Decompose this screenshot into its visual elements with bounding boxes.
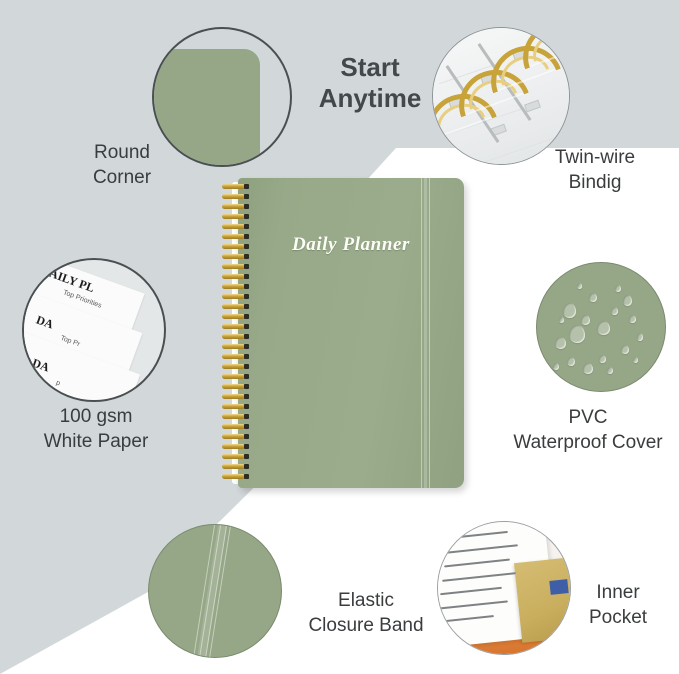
wire-loop-tip [244,414,249,419]
feature-label-line1: PVC [498,405,678,430]
water-droplet [589,293,597,302]
water-droplet [607,367,613,374]
wire-loop-body [222,344,245,349]
feature-label-twin-wire-binding: Twin-wire Bindig [520,145,670,195]
water-droplet [581,315,590,325]
wire-loop-body [222,384,245,389]
paper-stack: DAILY PL Top Priorities DA Top Pr DA p [24,260,164,400]
wire-loop-tip [244,194,249,199]
feature-label-line1: Inner [562,580,674,605]
feature-label-line2: Corner [52,165,192,190]
feature-label-line2: Waterproof Cover [498,430,678,455]
wire-loop-body [222,414,245,419]
wire-loop-body [222,394,245,399]
wire-loop-tip [244,274,249,279]
wire-loop-body [222,214,245,219]
water-droplet [555,337,566,349]
wire-loop [222,244,252,249]
wire-loop [222,434,252,439]
wire-loop-body [222,264,245,269]
feature-circle-elastic-closure-band [148,524,282,658]
water-droplet [629,315,636,323]
feature-label-line1: 100 gsm [16,404,176,429]
wire-loop-tip [244,244,249,249]
wire-loop-body [222,324,245,329]
wire-loop-body [222,274,245,279]
cover-title: Daily Planner [238,234,464,256]
wire-loop [222,354,252,359]
water-droplet [599,355,606,363]
water-droplet [569,325,585,343]
feature-label-line2: White Paper [16,429,176,454]
wire-loop-tip [244,424,249,429]
wire-loop [222,464,252,469]
feature-label-line2: Closure Band [286,613,446,638]
infographic-canvas: Round Corner Start Anytime Twin-wire Bin… [0,0,679,674]
wire-loop-body [222,374,245,379]
wire-loop [222,424,252,429]
wire-loop [222,334,252,339]
wire-loop [222,234,252,239]
wire-loop-body [222,254,245,259]
wire-loop-body [222,444,245,449]
wire-loop [222,304,252,309]
wire-loop-tip [244,454,249,459]
wire-loop [222,474,252,479]
wire-loop-tip [244,384,249,389]
elastic-band-edge [429,178,430,488]
wire-loop-tip [244,234,249,239]
wire-loop-body [222,364,245,369]
wire-loop [222,194,252,199]
wire-loop-tip [244,364,249,369]
feature-label-line2: Pocket [562,605,674,630]
feature-label-line1: Elastic [286,588,446,613]
wire-loop [222,274,252,279]
water-droplet [553,363,559,370]
wire-loop-tip [244,214,249,219]
wire-loop [222,394,252,399]
headline-start-anytime: Start Anytime [300,52,440,114]
wire-loop-tip [244,314,249,319]
product-notebook: Daily Planner [222,178,464,488]
feature-label-line2: Bindig [520,170,670,195]
wire-loop-body [222,224,245,229]
wire-loop [222,364,252,369]
wire-loop-tip [244,434,249,439]
wire-loop [222,444,252,449]
water-droplet [623,295,632,306]
wire-loop-tip [244,254,249,259]
elastic-band [424,178,427,488]
wire-loop-tip [244,264,249,269]
wire-loop [222,254,252,259]
water-droplet [567,357,575,366]
feature-label-pvc-waterproof-cover: PVC Waterproof Cover [498,405,678,455]
wire-loop-body [222,294,245,299]
wire-loop-body [222,434,245,439]
water-droplet [583,363,593,374]
wire-loop [222,404,252,409]
wire-loop [222,284,252,289]
wire-loop-body [222,424,245,429]
wire-loop-tip [244,294,249,299]
wire-loop [222,414,252,419]
notebook-cover: Daily Planner [238,178,464,488]
feature-label-round-corner: Round Corner [52,140,192,190]
wire-loop-body [222,464,245,469]
wire-loop-body [222,194,245,199]
wire-loop-tip [244,464,249,469]
feature-circle-pvc-waterproof-cover [536,262,666,392]
wire-loop-body [222,334,245,339]
wire-loop-body [222,314,245,319]
wire-loop [222,314,252,319]
feature-label-line1: Twin-wire [520,145,670,170]
wire-loop-tip [244,444,249,449]
wire-loop [222,224,252,229]
water-droplet [597,321,610,335]
water-droplet [577,283,582,289]
wire-loop-body [222,304,245,309]
wire-loop-tip [244,304,249,309]
wire-loop-body [222,284,245,289]
feature-label-white-paper: 100 gsm White Paper [16,404,176,454]
wire-loop [222,384,252,389]
wire-loop [222,454,252,459]
wire-loop-body [222,184,245,189]
wire-loop-body [222,404,245,409]
feature-label-elastic-closure-band: Elastic Closure Band [286,588,446,638]
water-droplet [559,317,564,323]
wire-loop-tip [244,354,249,359]
water-droplet [615,285,621,292]
water-droplet [563,303,576,318]
elastic-band-edge [421,178,422,488]
wire-loop [222,264,252,269]
wire-loop [222,294,252,299]
wire-loop-tip [244,224,249,229]
water-droplet [611,307,618,315]
water-droplet [633,357,638,363]
wire-loop-body [222,234,245,239]
wire-loop-body [222,244,245,249]
feature-circle-white-paper: DAILY PL Top Priorities DA Top Pr DA p [22,258,166,402]
wire-loop-tip [244,344,249,349]
feature-label-inner-pocket: Inner Pocket [562,580,674,630]
wire-loop [222,214,252,219]
wire-loop-body [222,474,245,479]
wire-loop [222,374,252,379]
wire-loop-tip [244,474,249,479]
wire-loop-body [222,354,245,359]
wire-loop-tip [244,184,249,189]
wire-loop-tip [244,334,249,339]
headline-line2: Anytime [300,83,440,114]
wire-loop [222,184,252,189]
wire-loop-tip [244,324,249,329]
wire-loop-body [222,204,245,209]
water-droplet [621,345,629,354]
wire-loop-tip [244,404,249,409]
feature-circle-inner-pocket [437,521,571,655]
water-droplet [637,333,643,341]
headline-line1: Start [300,52,440,83]
wire-loop-tip [244,394,249,399]
wire-loop [222,324,252,329]
wire-loop-tip [244,204,249,209]
wire-loop [222,344,252,349]
feature-label-line1: Round [52,140,192,165]
wire-loop [222,204,252,209]
wire-loop-tip [244,284,249,289]
wire-loop-tip [244,374,249,379]
wire-loop-body [222,454,245,459]
